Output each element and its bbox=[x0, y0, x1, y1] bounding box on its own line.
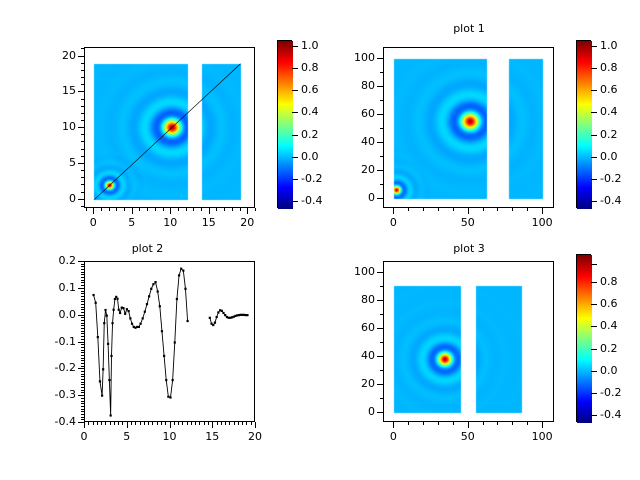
x-tick-minor bbox=[195, 422, 196, 425]
x-tick-minor bbox=[155, 208, 156, 211]
y-tick-minor bbox=[81, 99, 84, 100]
x-tick-minor bbox=[527, 422, 528, 425]
colorbar-tick bbox=[591, 371, 597, 372]
y-tick-minor bbox=[81, 384, 84, 385]
x-tick-minor bbox=[165, 422, 166, 425]
colorbar-tick bbox=[591, 304, 597, 305]
x-tick-label: 100 bbox=[522, 430, 562, 443]
y-tick-minor bbox=[81, 360, 84, 361]
y-tick-minor bbox=[81, 317, 84, 318]
y-tick-minor bbox=[81, 56, 84, 57]
x-tick-minor bbox=[131, 422, 132, 425]
colorbar-top-left[interactable] bbox=[277, 40, 292, 208]
y-tick-minor bbox=[81, 411, 84, 412]
panel-bottom-right: plot 3 050100020406080100 0.80.60.40.20.… bbox=[320, 240, 640, 480]
y-tick-minor bbox=[81, 325, 84, 326]
x-tick-label: 20 bbox=[235, 430, 275, 443]
y-tick-minor bbox=[81, 363, 84, 364]
y-tick-minor bbox=[81, 134, 84, 135]
y-tick-minor bbox=[81, 84, 84, 85]
y-tick-minor bbox=[81, 309, 84, 310]
x-tick-minor bbox=[217, 422, 218, 425]
x-tick-minor bbox=[139, 208, 140, 211]
colorbar-tick-label: 0.4 bbox=[301, 105, 319, 118]
y-tick-minor bbox=[81, 368, 84, 369]
x-tick-minor bbox=[152, 422, 153, 425]
axes-top-left[interactable] bbox=[84, 47, 255, 208]
y-tick-minor bbox=[81, 285, 84, 286]
y-tick-minor bbox=[81, 409, 84, 410]
y-tick-label: 10 bbox=[38, 120, 76, 133]
y-tick-minor bbox=[81, 398, 84, 399]
y-tick-minor bbox=[81, 184, 84, 185]
y-tick-minor bbox=[380, 128, 383, 129]
panel-top-left: 0510152005101520 1.00.80.60.40.20.0-0.2-… bbox=[0, 0, 320, 240]
colorbar-tick-label: -0.4 bbox=[600, 408, 621, 421]
y-tick-minor bbox=[81, 296, 84, 297]
y-tick-minor bbox=[81, 301, 84, 302]
colorbar-tick bbox=[292, 157, 298, 158]
heatmap-image-top-right bbox=[384, 48, 555, 209]
x-tick-minor bbox=[148, 422, 149, 425]
y-tick-label: 0.0 bbox=[38, 308, 76, 321]
y-tick-minor bbox=[81, 277, 84, 278]
y-tick-label: 20 bbox=[337, 377, 375, 390]
colorbar-tick-label: 0.2 bbox=[600, 342, 618, 355]
x-tick-minor bbox=[453, 422, 454, 425]
x-tick-minor bbox=[201, 208, 202, 211]
x-tick-minor bbox=[221, 422, 222, 425]
figure-canvas: 0510152005101520 1.00.80.60.40.20.0-0.2-… bbox=[0, 0, 640, 480]
x-tick-minor bbox=[225, 422, 226, 425]
y-tick-minor bbox=[81, 177, 84, 178]
x-tick-minor bbox=[101, 208, 102, 211]
y-tick-label: 80 bbox=[337, 79, 375, 92]
colorbar-tick-label: 0.2 bbox=[600, 128, 618, 141]
y-tick-minor bbox=[81, 156, 84, 157]
colorbar-tick bbox=[591, 415, 597, 416]
colorbar-tick-label: 0.0 bbox=[600, 364, 618, 377]
x-tick-minor bbox=[234, 422, 235, 425]
x-tick-minor bbox=[127, 422, 128, 425]
colorbar-tick-label: 0.0 bbox=[600, 150, 618, 163]
colorbar-tick-label: -0.4 bbox=[600, 194, 621, 207]
y-tick-minor bbox=[380, 272, 383, 273]
y-tick-label: 20 bbox=[38, 49, 76, 62]
x-tick-minor bbox=[163, 208, 164, 211]
y-tick-minor bbox=[81, 127, 84, 128]
x-tick-minor bbox=[124, 208, 125, 211]
colorbar-tick bbox=[591, 326, 597, 327]
x-tick-label: 10 bbox=[150, 430, 190, 443]
y-tick-minor bbox=[81, 417, 84, 418]
x-tick-minor bbox=[408, 422, 409, 425]
x-tick-label: 15 bbox=[192, 430, 232, 443]
x-tick-minor bbox=[101, 422, 102, 425]
y-tick-label: 0 bbox=[337, 405, 375, 418]
y-tick-minor bbox=[380, 86, 383, 87]
x-tick-minor bbox=[105, 422, 106, 425]
y-tick-minor bbox=[81, 395, 84, 396]
y-tick-minor bbox=[380, 286, 383, 287]
y-tick-minor bbox=[380, 114, 383, 115]
y-tick-minor bbox=[81, 323, 84, 324]
y-tick-minor bbox=[81, 374, 84, 375]
x-tick-minor bbox=[251, 422, 252, 425]
y-tick-label: 40 bbox=[337, 135, 375, 148]
panel-top-right: plot 1 050100020406080100 1.00.80.60.40.… bbox=[320, 0, 640, 240]
x-tick-label: 5 bbox=[107, 430, 147, 443]
x-tick-minor bbox=[122, 422, 123, 425]
colorbar-tick bbox=[591, 135, 597, 136]
x-tick-minor bbox=[232, 208, 233, 211]
x-tick-minor bbox=[93, 208, 94, 211]
axes-top-right[interactable] bbox=[383, 47, 554, 208]
y-tick-minor bbox=[81, 328, 84, 329]
colorbar-tick bbox=[591, 68, 597, 69]
colorbar-tick-label: 0.6 bbox=[600, 297, 618, 310]
x-tick-minor bbox=[542, 422, 543, 425]
y-tick-minor bbox=[81, 333, 84, 334]
y-tick-label: 15 bbox=[38, 84, 76, 97]
y-tick-minor bbox=[81, 288, 84, 289]
y-tick-minor bbox=[81, 77, 84, 78]
y-tick-minor bbox=[380, 384, 383, 385]
x-tick-minor bbox=[255, 422, 256, 425]
x-tick-minor bbox=[84, 422, 85, 425]
x-tick-minor bbox=[209, 208, 210, 211]
y-tick-minor bbox=[81, 331, 84, 332]
y-tick-minor bbox=[380, 58, 383, 59]
colorbar-tick bbox=[591, 46, 597, 47]
colorbar-tick bbox=[591, 90, 597, 91]
colorbar-tick bbox=[292, 68, 298, 69]
y-tick-minor bbox=[81, 414, 84, 415]
x-tick-minor bbox=[178, 422, 179, 425]
colorbar-tick-label: 0.4 bbox=[600, 319, 618, 332]
colorbar-tick-label: 0.2 bbox=[301, 128, 319, 141]
y-tick-minor bbox=[81, 106, 84, 107]
x-tick-minor bbox=[170, 422, 171, 425]
y-tick-minor bbox=[81, 274, 84, 275]
y-tick-minor bbox=[81, 291, 84, 292]
y-tick-minor bbox=[81, 48, 84, 49]
diagonal-overlay-line bbox=[85, 48, 256, 209]
y-tick-minor bbox=[81, 307, 84, 308]
y-tick-minor bbox=[380, 72, 383, 73]
y-tick-minor bbox=[81, 163, 84, 164]
colorbar-tick-label: 1.0 bbox=[600, 39, 618, 52]
y-tick-minor bbox=[81, 199, 84, 200]
x-tick-minor bbox=[438, 208, 439, 211]
x-tick-minor bbox=[497, 422, 498, 425]
y-tick-minor bbox=[81, 347, 84, 348]
x-tick-minor bbox=[438, 422, 439, 425]
x-tick-minor bbox=[393, 208, 394, 211]
x-tick-minor bbox=[423, 422, 424, 425]
y-tick-minor bbox=[81, 141, 84, 142]
y-tick-minor bbox=[81, 406, 84, 407]
y-tick-minor bbox=[380, 398, 383, 399]
colorbar-tick-label: 0.4 bbox=[600, 105, 618, 118]
y-tick-minor bbox=[81, 192, 84, 193]
y-tick-label: -0.1 bbox=[38, 335, 76, 348]
y-tick-minor bbox=[380, 300, 383, 301]
colorbar-top-right[interactable] bbox=[576, 40, 591, 208]
x-tick-minor bbox=[116, 208, 117, 211]
y-tick-minor bbox=[380, 100, 383, 101]
x-tick-minor bbox=[242, 422, 243, 425]
y-tick-minor bbox=[81, 170, 84, 171]
colorbar-gradient bbox=[577, 255, 592, 423]
y-tick-label: -0.2 bbox=[38, 361, 76, 374]
x-tick-label: 0 bbox=[73, 216, 113, 229]
x-tick-minor bbox=[110, 422, 111, 425]
x-tick-minor bbox=[97, 422, 98, 425]
x-tick-minor bbox=[204, 422, 205, 425]
y-tick-minor bbox=[380, 412, 383, 413]
y-tick-label: -0.4 bbox=[38, 415, 76, 428]
x-tick-minor bbox=[247, 208, 248, 211]
x-tick-minor bbox=[527, 208, 528, 211]
x-tick-minor bbox=[193, 208, 194, 211]
y-tick-minor bbox=[380, 184, 383, 185]
colorbar-tick-label: -0.2 bbox=[600, 386, 621, 399]
x-tick-minor bbox=[132, 208, 133, 211]
y-tick-label: 0.2 bbox=[38, 254, 76, 267]
y-tick-label: -0.3 bbox=[38, 388, 76, 401]
colorbar-tick-label: -0.2 bbox=[600, 172, 621, 185]
panel-top-right-title: plot 1 bbox=[383, 22, 555, 35]
x-tick-minor bbox=[144, 422, 145, 425]
colorbar-tick-label: 0.8 bbox=[600, 275, 618, 288]
y-tick-minor bbox=[81, 304, 84, 305]
heatmap-image-bottom-right bbox=[384, 262, 555, 423]
colorbar-tick-label: 0.0 bbox=[301, 150, 319, 163]
x-tick-label: 15 bbox=[189, 216, 229, 229]
y-tick-minor bbox=[81, 403, 84, 404]
y-tick-minor bbox=[380, 198, 383, 199]
y-tick-minor bbox=[81, 401, 84, 402]
x-tick-minor bbox=[240, 208, 241, 211]
x-tick-minor bbox=[170, 208, 171, 211]
x-tick-minor bbox=[93, 422, 94, 425]
y-tick-minor bbox=[81, 120, 84, 121]
y-tick-minor bbox=[81, 366, 84, 367]
x-tick-minor bbox=[182, 422, 183, 425]
x-tick-minor bbox=[453, 208, 454, 211]
colorbar-tick bbox=[292, 46, 298, 47]
x-tick-label: 0 bbox=[373, 216, 413, 229]
colorbar-tick bbox=[591, 349, 597, 350]
y-tick-minor bbox=[81, 419, 84, 420]
y-tick-minor bbox=[81, 344, 84, 345]
x-tick-minor bbox=[187, 422, 188, 425]
y-tick-label: 100 bbox=[337, 265, 375, 278]
colorbar-tick-label: 0.8 bbox=[600, 61, 618, 74]
x-tick-minor bbox=[199, 422, 200, 425]
x-tick-minor bbox=[140, 422, 141, 425]
y-tick-label: 20 bbox=[337, 163, 375, 176]
y-tick-label: 0 bbox=[38, 192, 76, 205]
colorbar-tick bbox=[591, 282, 597, 283]
y-tick-label: 80 bbox=[337, 293, 375, 306]
colorbar-tick bbox=[591, 157, 597, 158]
axes-bottom-right[interactable] bbox=[383, 261, 554, 422]
x-tick-label: 0 bbox=[64, 430, 104, 443]
y-tick-minor bbox=[81, 282, 84, 283]
y-tick-minor bbox=[81, 371, 84, 372]
y-tick-minor bbox=[81, 91, 84, 92]
y-tick-minor bbox=[81, 376, 84, 377]
x-tick-label: 50 bbox=[448, 216, 488, 229]
y-tick-minor bbox=[81, 272, 84, 273]
colorbar-gradient bbox=[577, 41, 592, 209]
y-tick-minor bbox=[81, 390, 84, 391]
colorbar-tick bbox=[591, 201, 597, 202]
y-tick-minor bbox=[81, 261, 84, 262]
colorbar-tick bbox=[591, 393, 597, 394]
y-tick-minor bbox=[81, 382, 84, 383]
colorbar-gradient bbox=[278, 41, 293, 209]
y-tick-minor bbox=[380, 370, 383, 371]
colorbar-bottom-right[interactable] bbox=[576, 254, 591, 422]
y-tick-minor bbox=[380, 328, 383, 329]
y-tick-minor bbox=[81, 392, 84, 393]
x-tick-minor bbox=[118, 422, 119, 425]
x-tick-minor bbox=[512, 422, 513, 425]
y-tick-minor bbox=[380, 342, 383, 343]
y-tick-label: 5 bbox=[38, 156, 76, 169]
x-tick-minor bbox=[497, 208, 498, 211]
y-tick-label: 40 bbox=[337, 349, 375, 362]
x-tick-minor bbox=[178, 208, 179, 211]
panel-bottom-left: plot 2 051015200.20.10.0-0.1-0.2-0.3-0.4 bbox=[0, 240, 320, 480]
y-tick-minor bbox=[81, 206, 84, 207]
y-tick-minor bbox=[81, 315, 84, 316]
x-tick-minor bbox=[157, 422, 158, 425]
x-tick-minor bbox=[224, 208, 225, 211]
colorbar-tick bbox=[292, 112, 298, 113]
colorbar-tick bbox=[591, 264, 597, 265]
y-tick-minor bbox=[81, 299, 84, 300]
colorbar-tick-label: 0.6 bbox=[301, 83, 319, 96]
x-tick-minor bbox=[212, 422, 213, 425]
y-tick-minor bbox=[81, 350, 84, 351]
y-tick-minor bbox=[81, 70, 84, 71]
x-tick-minor bbox=[109, 208, 110, 211]
x-tick-minor bbox=[86, 208, 87, 211]
y-tick-minor bbox=[81, 339, 84, 340]
x-tick-minor bbox=[88, 422, 89, 425]
colorbar-tick-label: 0.8 bbox=[301, 61, 319, 74]
colorbar-tick bbox=[292, 90, 298, 91]
x-tick-minor bbox=[161, 422, 162, 425]
colorbar-tick-label: 1.0 bbox=[301, 39, 319, 52]
x-tick-minor bbox=[135, 422, 136, 425]
x-tick-minor bbox=[216, 208, 217, 211]
colorbar-tick bbox=[292, 201, 298, 202]
x-tick-label: 5 bbox=[112, 216, 152, 229]
x-tick-minor bbox=[174, 422, 175, 425]
colorbar-tick bbox=[292, 179, 298, 180]
x-tick-minor bbox=[483, 422, 484, 425]
y-tick-minor bbox=[81, 264, 84, 265]
x-tick-label: 0 bbox=[373, 430, 413, 443]
y-tick-label: 60 bbox=[337, 107, 375, 120]
y-tick-minor bbox=[81, 149, 84, 150]
y-tick-minor bbox=[81, 336, 84, 337]
y-tick-minor bbox=[81, 387, 84, 388]
x-tick-label: 100 bbox=[522, 216, 562, 229]
y-tick-minor bbox=[81, 320, 84, 321]
x-tick-minor bbox=[423, 208, 424, 211]
x-tick-minor bbox=[512, 208, 513, 211]
x-tick-minor bbox=[255, 208, 256, 211]
y-tick-label: 60 bbox=[337, 321, 375, 334]
y-tick-minor bbox=[380, 142, 383, 143]
x-tick-minor bbox=[186, 208, 187, 211]
x-tick-minor bbox=[229, 422, 230, 425]
y-tick-minor bbox=[81, 269, 84, 270]
y-tick-minor bbox=[81, 280, 84, 281]
y-tick-minor bbox=[81, 422, 84, 423]
x-tick-minor bbox=[468, 422, 469, 425]
y-tick-label: 0.1 bbox=[38, 281, 76, 294]
y-tick-label: 0 bbox=[337, 191, 375, 204]
y-tick-minor bbox=[81, 266, 84, 267]
colorbar-tick-label: 0.6 bbox=[600, 83, 618, 96]
x-tick-minor bbox=[238, 422, 239, 425]
y-tick-minor bbox=[380, 314, 383, 315]
x-tick-minor bbox=[393, 422, 394, 425]
x-tick-label: 50 bbox=[448, 430, 488, 443]
y-tick-minor bbox=[81, 358, 84, 359]
axes-bottom-left[interactable] bbox=[84, 261, 255, 422]
y-tick-minor bbox=[81, 355, 84, 356]
x-tick-label: 10 bbox=[150, 216, 190, 229]
y-tick-minor bbox=[380, 356, 383, 357]
x-tick-minor bbox=[191, 422, 192, 425]
x-tick-minor bbox=[408, 208, 409, 211]
y-tick-minor bbox=[81, 379, 84, 380]
x-tick-minor bbox=[147, 208, 148, 211]
y-tick-minor bbox=[81, 63, 84, 64]
y-tick-minor bbox=[81, 342, 84, 343]
y-tick-label: 100 bbox=[337, 51, 375, 64]
x-tick-minor bbox=[468, 208, 469, 211]
y-tick-minor bbox=[81, 113, 84, 114]
panel-bottom-right-title: plot 3 bbox=[383, 242, 555, 255]
y-tick-minor bbox=[81, 352, 84, 353]
x-tick-minor bbox=[246, 422, 247, 425]
x-tick-minor bbox=[542, 208, 543, 211]
colorbar-tick bbox=[591, 112, 597, 113]
colorbar-tick bbox=[591, 179, 597, 180]
x-tick-minor bbox=[208, 422, 209, 425]
x-tick-label: 20 bbox=[227, 216, 267, 229]
line-series-plot bbox=[85, 262, 256, 423]
y-tick-minor bbox=[380, 156, 383, 157]
y-tick-minor bbox=[81, 293, 84, 294]
x-tick-minor bbox=[114, 422, 115, 425]
colorbar-tick bbox=[292, 135, 298, 136]
x-tick-minor bbox=[483, 208, 484, 211]
y-tick-minor bbox=[81, 312, 84, 313]
y-tick-minor bbox=[380, 170, 383, 171]
